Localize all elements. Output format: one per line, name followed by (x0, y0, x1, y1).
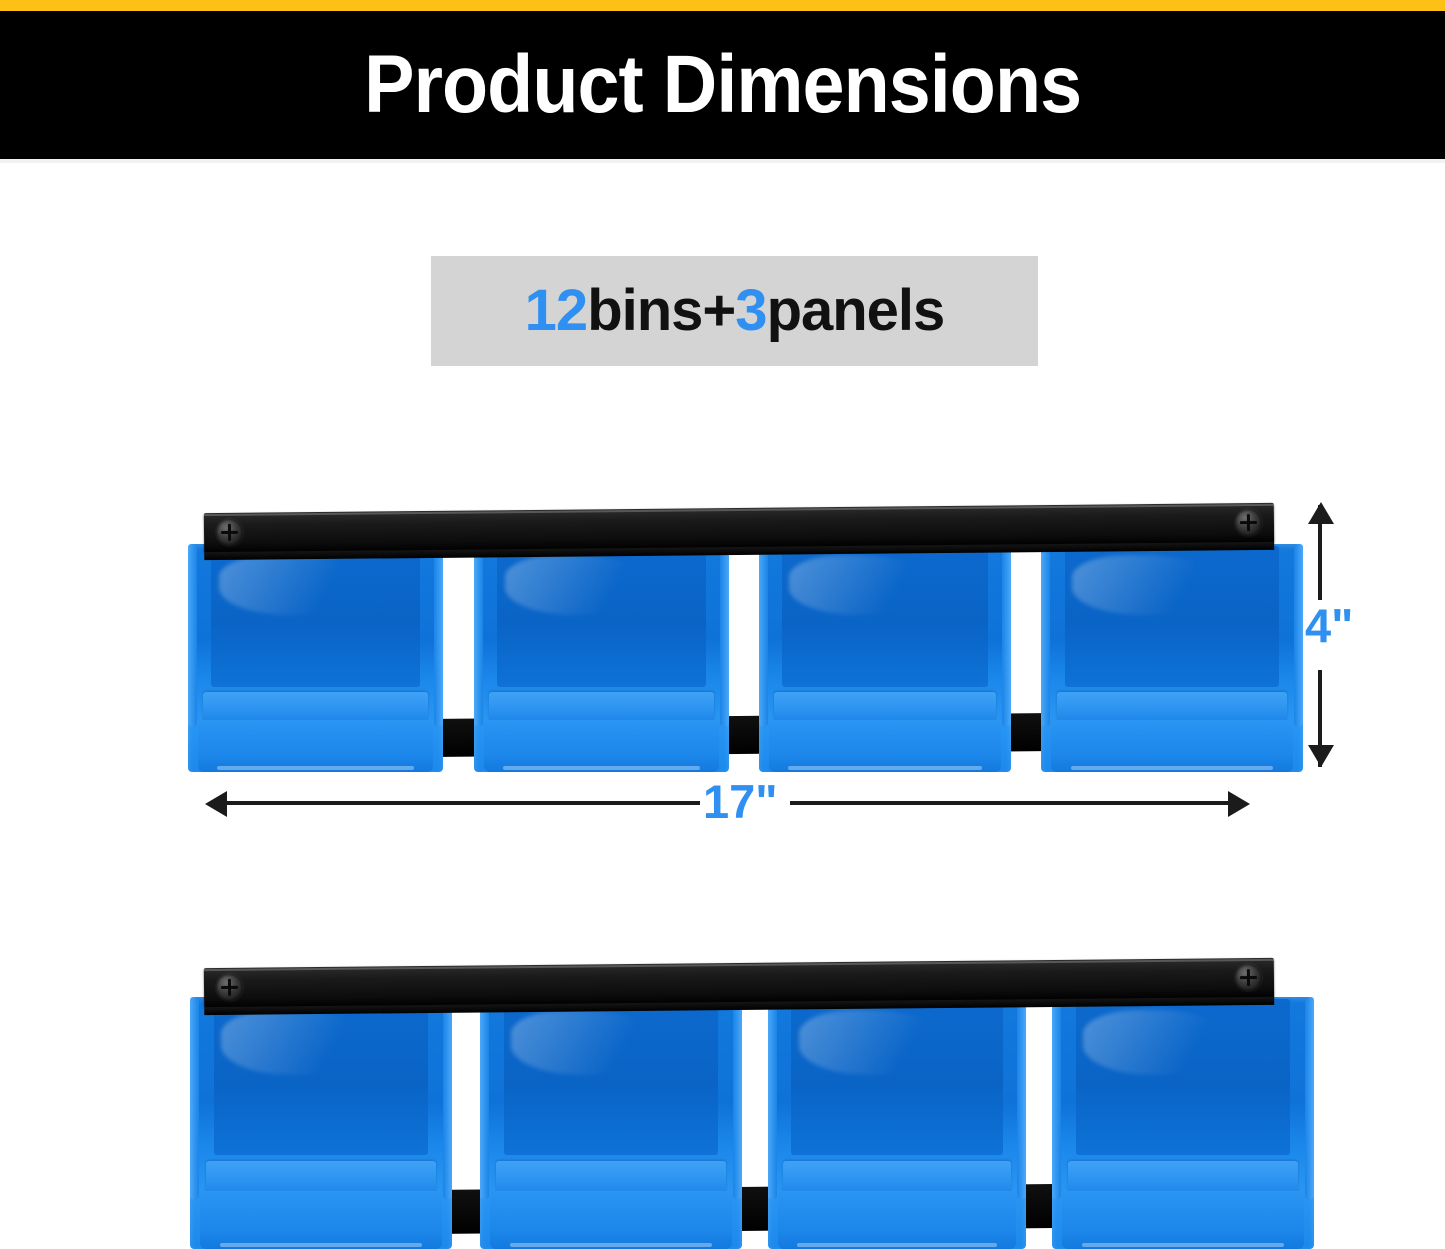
bin-left-edge (188, 544, 197, 726)
bin-base-highlight (217, 766, 414, 770)
bin-front-ledge (203, 692, 427, 722)
bin-base-highlight (510, 1243, 712, 1247)
bin-gloss-highlight (505, 555, 658, 614)
bin-base-highlight (220, 1243, 422, 1247)
top-rack-bin-2 (474, 544, 729, 772)
bin-right-edge (443, 997, 452, 1199)
bins-label: bins+ (587, 278, 735, 343)
bin-front-ledge (1057, 692, 1288, 722)
bin-base (1051, 720, 1292, 772)
screw-icon (216, 519, 243, 546)
bin-right-edge (733, 997, 742, 1199)
panels-count: 3 (735, 278, 766, 343)
top-rack-bin-3 (759, 544, 1011, 772)
bin-base (769, 720, 1001, 772)
bin-base-highlight (1082, 1243, 1284, 1247)
top-rack-bin-1 (188, 544, 443, 772)
bin-left-edge (190, 997, 199, 1199)
bin-front-ledge (1068, 1161, 1299, 1194)
bin-base (200, 1191, 441, 1249)
rail-highlight (204, 959, 1274, 971)
height-arrow-down-icon (1308, 745, 1334, 767)
top-rack (196, 498, 1306, 783)
bin-right-edge (1305, 997, 1314, 1199)
bin-base (1062, 1191, 1303, 1249)
page-title: Product Dimensions (364, 44, 1081, 126)
bin-base-highlight (503, 766, 700, 770)
panels-label: panels (767, 278, 945, 343)
bin-base-highlight (788, 766, 983, 770)
bin-left-edge (759, 544, 768, 726)
bins-count: 12 (525, 278, 588, 343)
bottom-rack-bin-3 (768, 997, 1026, 1249)
bin-front-ledge (206, 1161, 437, 1194)
top-accent-bar (0, 0, 1445, 11)
bin-front-ledge (496, 1161, 727, 1194)
bin-right-edge (1294, 544, 1303, 726)
bin-gloss-highlight (1072, 555, 1229, 614)
height-dimension-label: 4" (1305, 602, 1353, 649)
screw-icon (216, 974, 243, 1001)
rail-highlight (204, 504, 1274, 516)
bin-gloss-highlight (219, 555, 372, 614)
bin-base (198, 720, 433, 772)
top-rack-mounting-rail (204, 503, 1274, 553)
title-banner: Product Dimensions (0, 11, 1445, 159)
bin-front-ledge (489, 692, 713, 722)
bin-front-ledge (783, 1161, 1010, 1194)
bin-left-edge (768, 997, 777, 1199)
quantity-callout-text: 12bins+3panels (525, 282, 945, 340)
bin-left-edge (1041, 544, 1050, 726)
bin-left-edge (1052, 997, 1061, 1199)
bin-left-edge (480, 997, 489, 1199)
bin-base (484, 720, 719, 772)
width-arrow-right-icon (1228, 791, 1250, 817)
bin-base (778, 1191, 1015, 1249)
screw-icon (1235, 509, 1262, 536)
bottom-rack-mounting-rail (204, 958, 1274, 1008)
top-rack-bin-4 (1041, 544, 1303, 772)
quantity-callout-box: 12bins+3panels (431, 256, 1038, 366)
bin-right-edge (720, 544, 729, 726)
bin-base-highlight (1071, 766, 1273, 770)
bottom-rack-bin-1 (190, 997, 452, 1249)
bottom-rack-bin-4 (1052, 997, 1314, 1249)
width-dimension-label: 17" (703, 778, 778, 825)
bottom-rack-bin-2 (480, 997, 742, 1249)
bin-right-edge (434, 544, 443, 726)
bin-base (490, 1191, 731, 1249)
screw-icon (1235, 964, 1262, 991)
bin-base-highlight (797, 1243, 996, 1247)
banner-base-divider (0, 159, 1445, 163)
bin-left-edge (474, 544, 483, 726)
bin-right-edge (1002, 544, 1011, 726)
bottom-rack (196, 955, 1306, 1245)
bin-right-edge (1017, 997, 1026, 1199)
bin-front-ledge (774, 692, 996, 722)
